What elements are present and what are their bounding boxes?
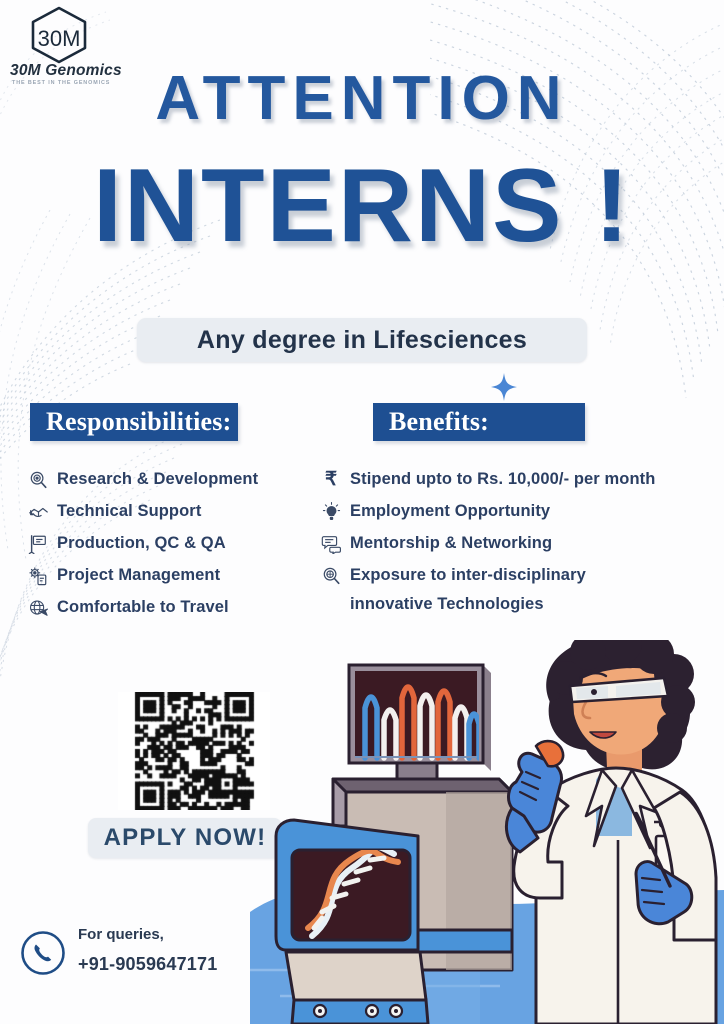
list-item: Technical Support	[25, 500, 335, 523]
list-item-label: Comfortable to Travel	[57, 596, 229, 618]
apply-now-label: APPLY NOW!	[104, 824, 267, 852]
list-item-label: Stipend upto to Rs. 10,000/- per month	[350, 468, 655, 490]
list-item-label: Technical Support	[57, 500, 201, 522]
benefits-title: Benefits:	[373, 407, 489, 437]
chat-bubbles-icon	[318, 533, 344, 555]
headline-attention: ATTENTION	[0, 68, 724, 130]
list-item: Comfortable to Travel	[25, 596, 335, 619]
list-item-label: Project Management	[57, 564, 220, 586]
phone-icon	[20, 930, 66, 976]
scientist-illustration	[250, 640, 724, 1024]
list-item: Mentorship & Networking	[318, 532, 718, 555]
section-header-benefits: Benefits:	[373, 403, 585, 441]
section-header-responsibilities: Responsibilities:	[30, 403, 238, 441]
phone-number: +91-9059647171	[78, 954, 217, 975]
benefits-list: ₹ Stipend upto to Rs. 10,000/- per month	[318, 468, 718, 625]
list-item: Exposure to inter-disciplinary	[318, 564, 718, 587]
sparkle-icon	[491, 373, 517, 401]
list-item-label: Exposure to inter-disciplinary	[350, 564, 586, 586]
handshake-support-icon	[25, 501, 51, 523]
hexagon-icon: 30M	[28, 6, 90, 64]
list-item: ₹ Stipend upto to Rs. 10,000/- per month	[318, 468, 718, 491]
list-item: Research & Development	[25, 468, 335, 491]
list-item: Production, QC & QA	[25, 532, 335, 555]
globe-plane-icon	[25, 597, 51, 619]
list-item: innovative Technologies	[318, 593, 718, 616]
eligibility-pill: Any degree in Lifesciences	[137, 318, 587, 362]
list-item: Project Management	[25, 564, 335, 587]
target-magnifier-icon	[25, 469, 51, 491]
queries-label: For queries,	[78, 926, 164, 943]
qr-code[interactable]	[118, 692, 270, 810]
svg-text:30M: 30M	[38, 26, 81, 51]
list-item-label: innovative Technologies	[350, 593, 544, 615]
responsibilities-title: Responsibilities:	[30, 407, 231, 437]
list-item-label: Mentorship & Networking	[350, 532, 552, 554]
gear-clipboard-icon	[25, 565, 51, 587]
presentation-board-icon	[25, 533, 51, 555]
responsibilities-list: Research & Development Technical Support	[25, 468, 335, 628]
list-item-label: Research & Development	[57, 468, 258, 490]
poster-canvas: 30M 30M Genomics THE BEST IN THE GENOMIC…	[0, 0, 724, 1024]
list-item-spacer	[318, 594, 344, 616]
list-item-label: Employment Opportunity	[350, 500, 550, 522]
lightbulb-icon	[318, 501, 344, 523]
magnifier-icon	[318, 565, 344, 587]
eligibility-text: Any degree in Lifesciences	[197, 326, 527, 355]
rupee-icon: ₹	[318, 469, 344, 491]
headline-interns: INTERNS !	[0, 150, 724, 262]
list-item: Employment Opportunity	[318, 500, 718, 523]
list-item-label: Production, QC & QA	[57, 532, 226, 554]
